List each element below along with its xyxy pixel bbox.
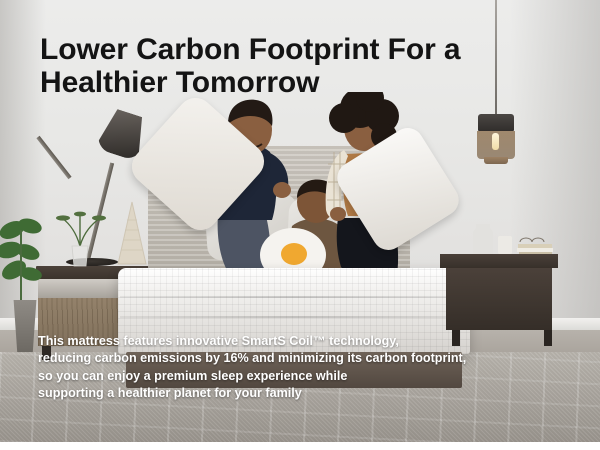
- decor-cone-icon: [118, 202, 146, 264]
- right-nightstand-body: [446, 268, 552, 330]
- headline-line-1: Lower Carbon Footprint For a: [40, 33, 480, 66]
- body-copy: This mattress features innovative SmartS…: [38, 333, 568, 402]
- pendant-lamp-base-ring: [484, 157, 508, 164]
- decor-candle-icon: [498, 236, 512, 254]
- mattress-seam: [120, 296, 468, 298]
- body-copy-line-4: supporting a healthier planet for your f…: [38, 385, 568, 402]
- advertisement-banner: Lower Carbon Footprint For a Healthier T…: [0, 0, 600, 450]
- pendant-lamp-cap: [478, 114, 514, 131]
- page-title: Lower Carbon Footprint For a Healthier T…: [40, 33, 480, 99]
- pendant-lamp-cord: [495, 0, 497, 116]
- pendant-lamp-bulb: [492, 133, 499, 150]
- potted-plant: [0, 210, 48, 310]
- bottom-white-band: [0, 442, 600, 450]
- body-copy-line-3: so you can enjoy a premium sleep experie…: [38, 368, 568, 385]
- body-copy-line-2: reducing carbon emissions by 16% and min…: [38, 350, 568, 367]
- right-nightstand-top: [440, 254, 558, 268]
- eyeglasses-icon: [520, 238, 544, 242]
- headline-line-2: Healthier Tomorrow: [40, 66, 480, 99]
- mattress-seam: [120, 316, 468, 318]
- body-copy-line-1: This mattress features innovative SmartS…: [38, 333, 568, 350]
- vase-with-greenery: [54, 206, 106, 268]
- right-nightstand-decor: [460, 214, 556, 258]
- decor-bottle-icon: [473, 224, 493, 254]
- woman-left-hand: [330, 207, 346, 221]
